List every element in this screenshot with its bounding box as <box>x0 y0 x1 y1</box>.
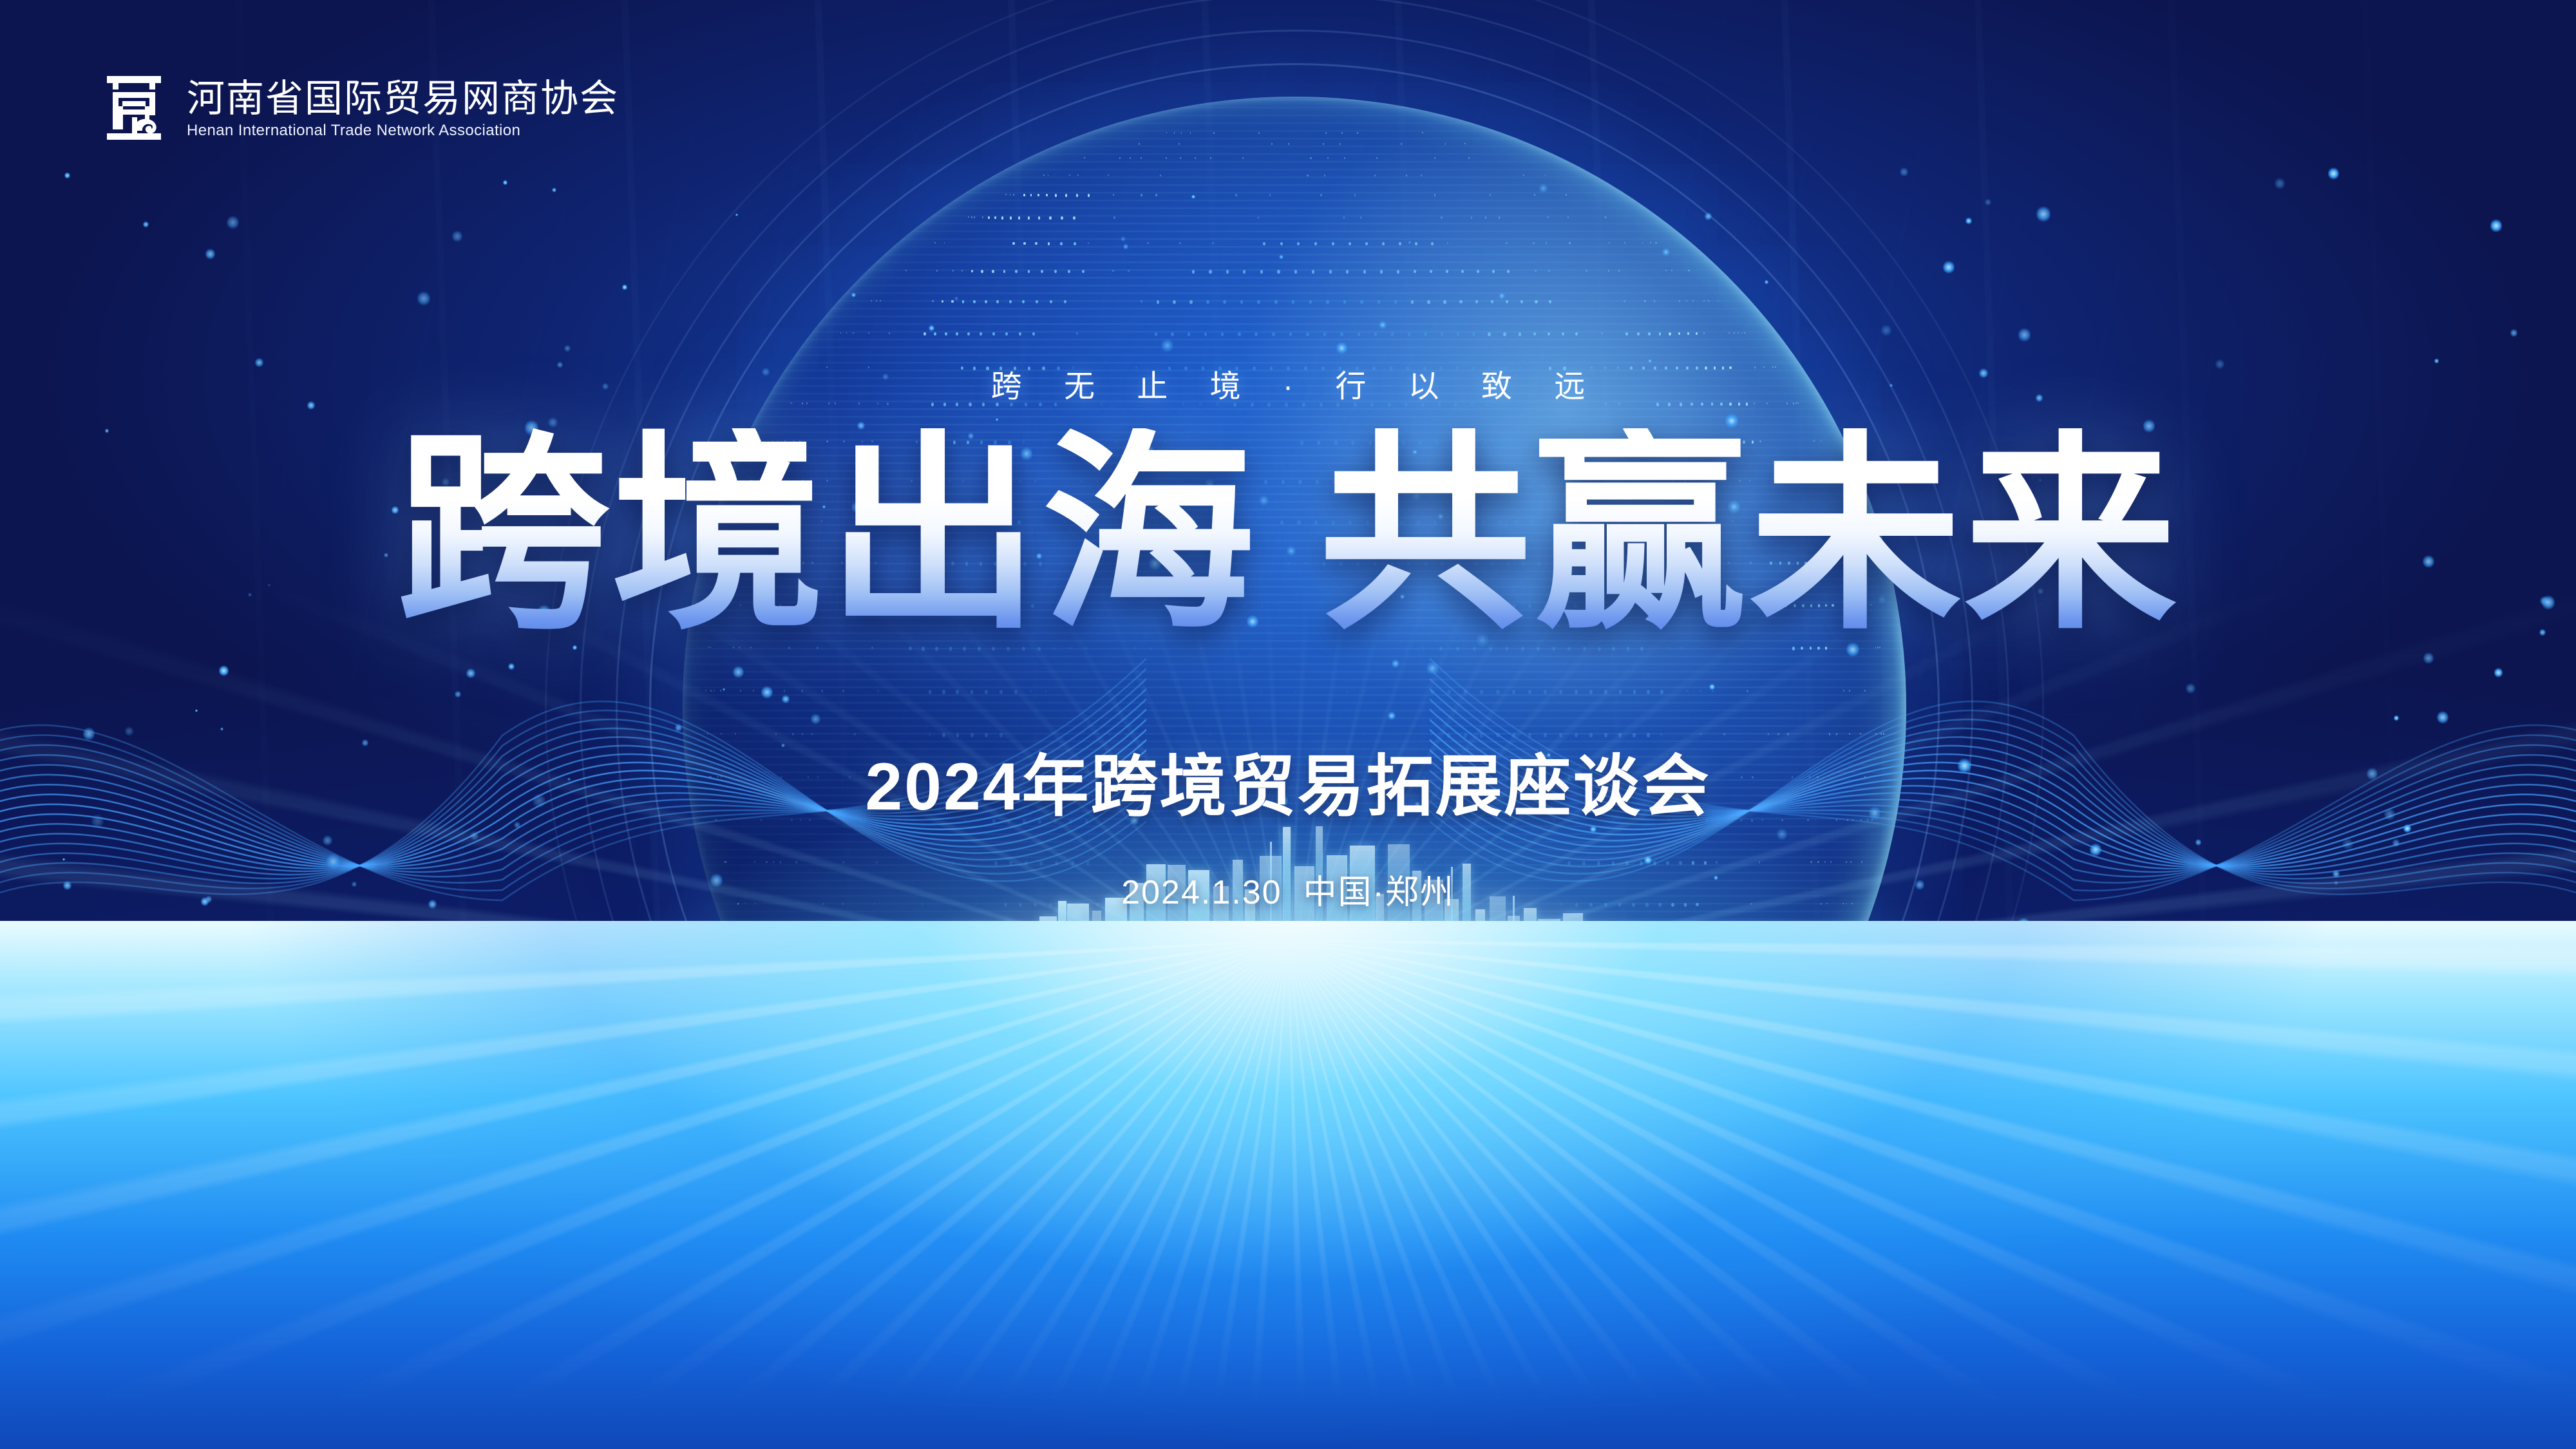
event-subtitle: 2024年跨境贸易拓展座谈会 <box>0 750 2576 824</box>
event-location: 中国·郑州 <box>1303 874 1454 911</box>
event-dateline: 2024.1.30 中国·郑州 <box>0 873 2576 913</box>
title-part-2: 共赢未来 <box>1319 415 2179 653</box>
page-title: 跨境出海共赢未来 <box>0 428 2576 641</box>
event-tagline: 跨 无 止 境 · 行 以 致 远 <box>0 361 2576 406</box>
light-floor <box>0 921 2576 1449</box>
brand-name-en: Henan International Trade Network Associ… <box>187 122 619 139</box>
event-banner: 河南省国际贸易网商协会 Henan International Trade Ne… <box>0 0 2576 1449</box>
brand-logo-text: 河南省国际贸易网商协会 Henan International Trade Ne… <box>187 79 619 140</box>
brand-logo[interactable]: 河南省国际贸易网商协会 Henan International Trade Ne… <box>103 71 619 148</box>
brand-name-cn: 河南省国际贸易网商协会 <box>187 79 619 118</box>
seal-stamp-icon <box>103 71 165 148</box>
title-part-1: 跨境出海 <box>397 415 1257 653</box>
light-rays-icon <box>0 940 2576 1449</box>
event-date: 2024.1.30 <box>1121 874 1282 911</box>
